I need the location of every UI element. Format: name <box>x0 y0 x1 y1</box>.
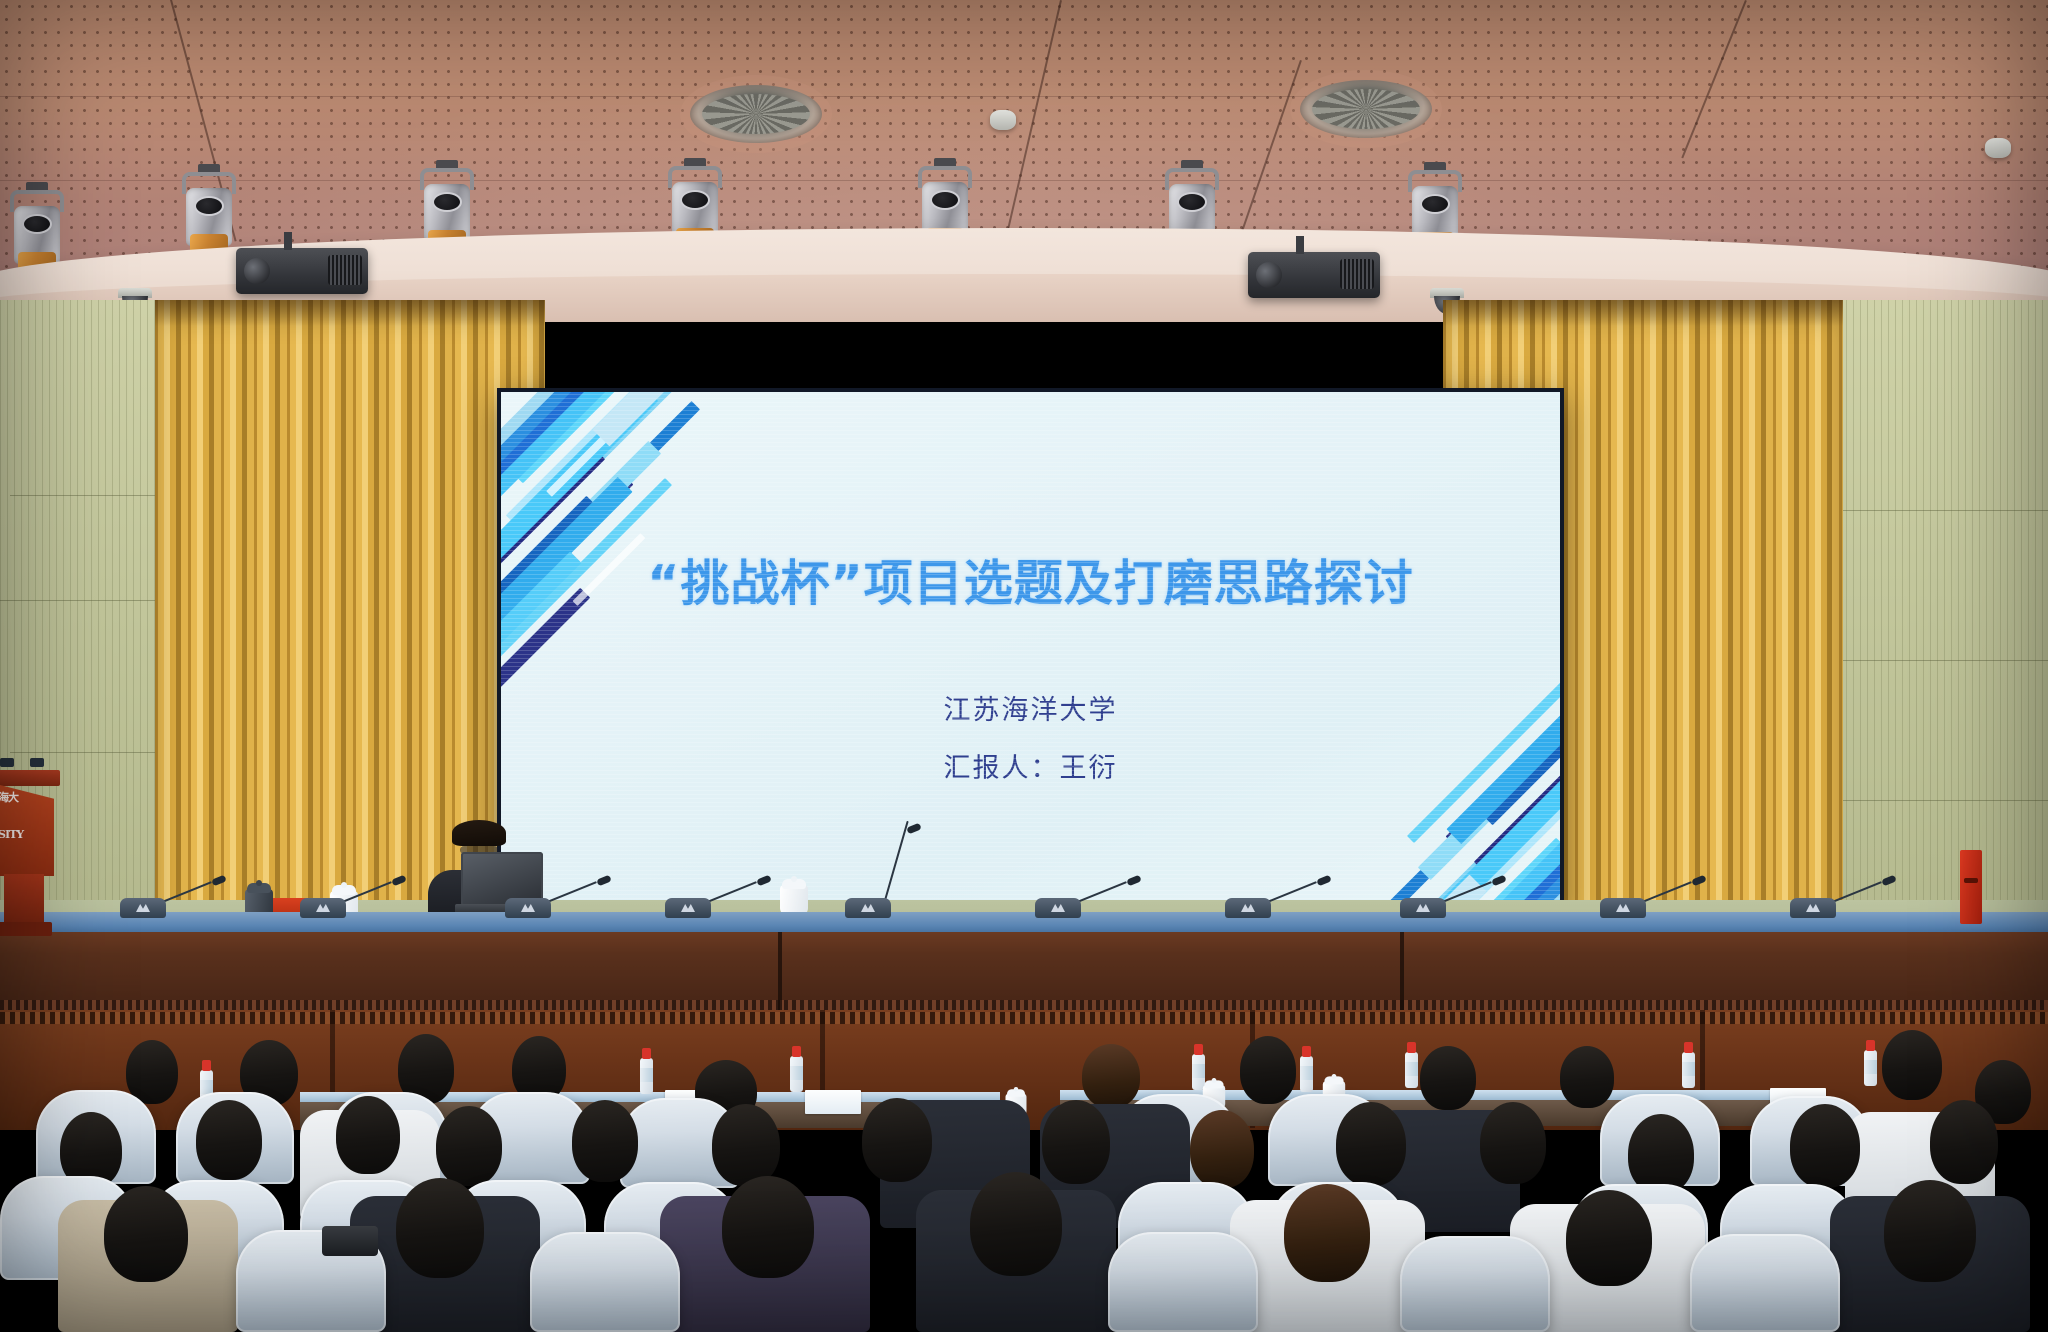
audience-head <box>1790 1104 1860 1188</box>
rear-wall-trim <box>0 1012 2048 1024</box>
ceiling-projector <box>236 248 368 294</box>
smoke-detector-icon <box>1985 138 2011 158</box>
audience-head <box>572 1100 638 1182</box>
ceiling-seam <box>0 96 2048 97</box>
water-bottle <box>1300 1046 1313 1092</box>
audience-head <box>1284 1184 1370 1282</box>
auditorium-seat <box>530 1232 680 1332</box>
audience-head <box>712 1104 780 1186</box>
auditorium-seat <box>1400 1236 1550 1332</box>
water-bottle <box>640 1048 653 1094</box>
audience-head <box>1240 1036 1296 1104</box>
audience-head <box>104 1186 188 1282</box>
audience-head <box>1420 1046 1476 1110</box>
water-bottle <box>1682 1042 1695 1088</box>
desk-microphone <box>1225 896 1271 918</box>
slide-subtitle-speaker: 汇报人：王衍 <box>501 746 1560 785</box>
audience-head <box>1082 1044 1140 1108</box>
audience-head <box>1190 1110 1254 1188</box>
desk-microphone <box>1600 896 1646 918</box>
air-vent-icon <box>690 85 822 143</box>
desk-microphone <box>300 896 346 918</box>
desk-microphone <box>1790 896 1836 918</box>
water-bottle <box>1864 1040 1877 1086</box>
audience-head <box>1628 1114 1694 1194</box>
slide-canvas: “挑战杯”项目选题及打磨思路探讨 江苏海洋大学 汇报人：王衍 <box>501 392 1560 911</box>
lectern-emblem: 海大 SITY <box>0 792 38 848</box>
audience-head <box>396 1178 484 1278</box>
audience-head <box>862 1098 932 1182</box>
presentation-screen: “挑战杯”项目选题及打磨思路探讨 江苏海洋大学 汇报人：王衍 <box>497 388 1564 915</box>
desk-microphone-tall <box>845 896 891 918</box>
audience-head <box>436 1106 502 1186</box>
slide-subtitle-organization: 江苏海洋大学 <box>501 688 1560 727</box>
audience-head <box>1336 1102 1406 1186</box>
water-bottle <box>1405 1042 1418 1088</box>
audience-head <box>1882 1030 1942 1100</box>
desk-microphone <box>665 896 711 918</box>
desk-microphone <box>1035 896 1081 918</box>
fire-cabinet <box>1960 850 1982 924</box>
audience-head <box>722 1176 814 1278</box>
desk-microphone <box>505 896 551 918</box>
ceiling-projector <box>1248 252 1380 298</box>
audience-head <box>336 1096 400 1174</box>
auditorium-seat <box>1690 1234 1840 1332</box>
audience-head <box>1560 1046 1614 1108</box>
smoke-detector-icon <box>990 110 1016 130</box>
lectern: 海大 SITY <box>0 770 60 940</box>
tea-mug <box>780 876 808 916</box>
audience-head <box>1042 1100 1110 1184</box>
audience-head <box>126 1040 178 1104</box>
auditorium-seat <box>1108 1232 1258 1332</box>
auditorium-photo: “挑战杯”项目选题及打磨思路探讨 江苏海洋大学 汇报人：王衍 海大 SITY <box>0 0 2048 1332</box>
audience-camera <box>322 1226 378 1256</box>
ceiling-seam <box>0 180 2048 181</box>
desk-microphone <box>1400 896 1446 918</box>
desk-name-card <box>805 1090 861 1114</box>
audience-head <box>1566 1190 1652 1286</box>
audience-head <box>970 1172 1062 1276</box>
air-vent-icon <box>1300 80 1432 138</box>
slide-title: “挑战杯”项目选题及打磨思路探讨 <box>501 544 1560 615</box>
audience-head <box>1480 1102 1546 1184</box>
water-bottle <box>790 1046 803 1092</box>
audience-head <box>196 1100 262 1180</box>
audience-head <box>1930 1100 1998 1184</box>
audience-head <box>1884 1180 1976 1282</box>
desk-microphone <box>120 896 166 918</box>
